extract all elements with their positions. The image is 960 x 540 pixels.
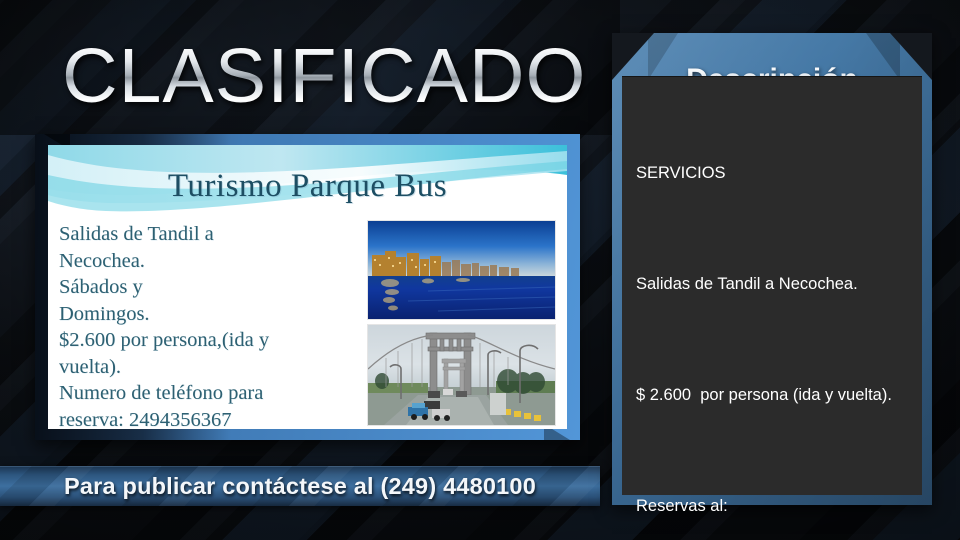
description-body: SERVICIOS Salidas de Tandil a Necochea. … xyxy=(622,76,922,495)
flyer-brand-title: Turismo Parque Bus xyxy=(48,168,567,205)
flyer-photo-suspension-bridge xyxy=(368,325,555,425)
flyer-body-text: Salidas de Tandil a Necochea. Sábados y … xyxy=(59,221,347,429)
suspension-bridge-with-cars-icon xyxy=(368,325,555,425)
description-panel: Descripción SERVICIOS Salidas de Tandil … xyxy=(612,33,932,505)
flyer-line: $2.600 por persona,(ida y xyxy=(59,327,347,354)
slide-canvas: CLASIFICADO xyxy=(0,0,960,540)
description-booking-label: Reservas al: xyxy=(636,491,908,522)
flyer-line: Domingos. xyxy=(59,301,347,328)
flyer-line: vuelta). xyxy=(59,354,347,381)
footer-text: Para publicar contáctese al (249) 448010… xyxy=(0,466,600,506)
description-heading: SERVICIOS xyxy=(636,158,908,189)
description-text: SERVICIOS Salidas de Tandil a Necochea. … xyxy=(636,96,908,540)
coastal-city-at-dusk-icon xyxy=(368,221,555,319)
flyer-line: reserva: 2494356367 xyxy=(59,407,347,430)
flyer-line: Necochea. xyxy=(59,248,347,275)
flyer-frame: Turismo Parque Bus Salidas de Tandil a N… xyxy=(35,134,580,440)
flyer-image: Turismo Parque Bus Salidas de Tandil a N… xyxy=(48,145,567,429)
flyer-line: Salidas de Tandil a xyxy=(59,221,347,248)
description-route: Salidas de Tandil a Necochea. xyxy=(636,269,908,300)
flyer-photo-coastal-city xyxy=(368,221,555,319)
description-price: $ 2.600 por persona (ida y vuelta). xyxy=(636,380,908,411)
flyer-line: Sábados y xyxy=(59,274,347,301)
page-title: CLASIFICADO xyxy=(62,33,586,119)
flyer-line: Numero de teléfono para xyxy=(59,380,347,407)
